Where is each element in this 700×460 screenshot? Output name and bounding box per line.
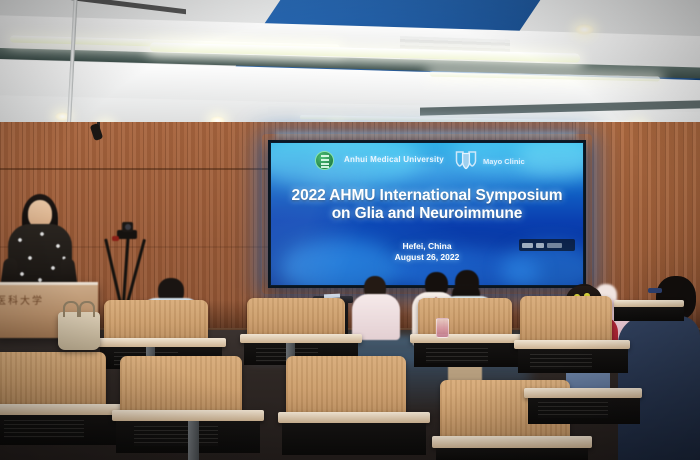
desk-surface — [112, 410, 264, 421]
seat-back — [104, 300, 208, 342]
under-desk-basket — [4, 420, 84, 438]
desk-underframe — [614, 307, 684, 321]
presentation-screen[interactable]: Anhui Medical University Mayo Clinic 202… — [268, 140, 586, 288]
camera-icon — [122, 222, 133, 232]
seat-back — [120, 356, 242, 414]
podium-chinese-text: 医科大学 — [0, 292, 62, 308]
screen-surface: Anhui Medical University Mayo Clinic 202… — [271, 143, 583, 285]
handbag — [58, 312, 100, 350]
under-desk-basket — [134, 426, 218, 446]
desk-surface — [278, 412, 430, 423]
eyeglasses-icon — [648, 288, 662, 293]
desk-surface — [240, 334, 362, 343]
desk-underframe — [436, 448, 588, 460]
ceiling — [0, 0, 700, 132]
ceiling-conduit — [36, 0, 186, 14]
desk-surface — [524, 388, 642, 398]
desk-surface — [96, 338, 226, 347]
seat-back — [247, 298, 345, 338]
seat-back — [520, 296, 612, 344]
drinking-glass — [436, 318, 449, 338]
under-desk-basket — [426, 348, 488, 363]
desk-surface — [514, 340, 630, 349]
desk-surface — [614, 300, 684, 307]
desk-surface — [0, 404, 128, 415]
under-desk-basket — [538, 402, 608, 418]
seat-back — [286, 356, 406, 416]
lecture-hall-photo: Anhui Medical University Mayo Clinic 202… — [0, 0, 700, 460]
seat-back — [418, 298, 512, 338]
under-desk-basket — [530, 354, 592, 369]
screen-reflection — [271, 143, 583, 285]
seat-back — [0, 352, 106, 408]
screen-top-light-spill — [276, 132, 576, 140]
ceiling-downlight — [575, 24, 594, 35]
desk-leg — [188, 421, 199, 460]
tripod-knob — [112, 236, 119, 241]
desk-underframe — [282, 423, 426, 455]
desk-surface — [432, 436, 592, 448]
